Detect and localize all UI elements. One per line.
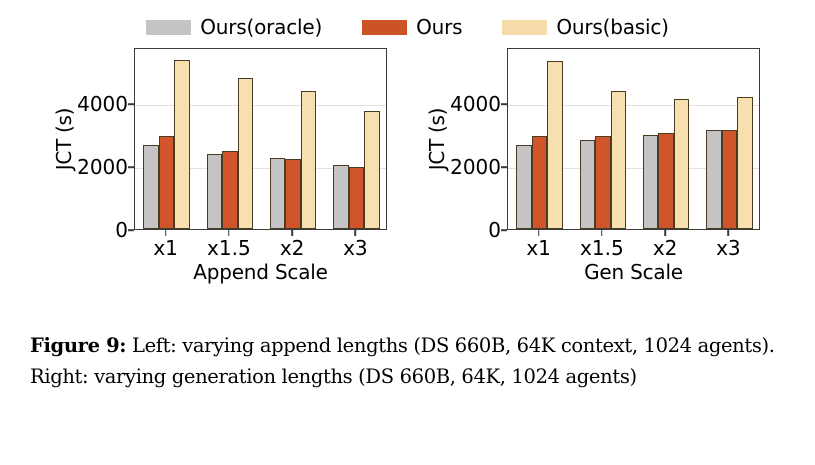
y-axis-label: JCT (s) xyxy=(425,48,449,230)
bar xyxy=(532,136,548,230)
x-axis-label: Append Scale xyxy=(134,260,387,284)
x-tick-label: x1 xyxy=(153,236,178,260)
plot-area xyxy=(507,48,760,230)
legend-entry: Ours(oracle) xyxy=(146,17,322,37)
bar xyxy=(595,136,611,230)
x-tick-label: x1 xyxy=(526,236,551,260)
x-tick-label: x2 xyxy=(280,236,305,260)
bar xyxy=(611,91,627,229)
bar xyxy=(706,130,722,229)
x-axis-label: Gen Scale xyxy=(507,260,760,284)
bar xyxy=(174,60,190,229)
bar xyxy=(364,111,380,229)
legend-label: Ours xyxy=(416,17,462,37)
bar xyxy=(516,145,532,229)
caption-prefix: Figure 9: xyxy=(30,334,126,357)
x-tick-label: x1.5 xyxy=(207,236,251,260)
gridline xyxy=(135,105,386,106)
x-tick-label: x1.5 xyxy=(580,236,624,260)
bar xyxy=(643,135,659,229)
bar xyxy=(547,61,563,229)
bar xyxy=(159,136,175,230)
x-axis-ticks: x1x1.5x2x3 xyxy=(507,230,760,258)
x-tick-label: x3 xyxy=(343,236,368,260)
legend-swatch-gray-icon xyxy=(146,20,191,35)
y-axis-label: JCT (s) xyxy=(52,48,76,230)
legend-label: Ours(basic) xyxy=(556,17,668,37)
chart-legend: Ours(oracle) Ours Ours(basic) xyxy=(0,10,815,44)
bar xyxy=(143,145,159,229)
y-axis-ticks: 020004000 xyxy=(447,48,507,230)
legend-entry: Ours(basic) xyxy=(502,17,668,37)
bar xyxy=(238,78,254,229)
bar xyxy=(658,133,674,229)
bar xyxy=(207,154,223,229)
y-tick-label: 0 xyxy=(115,218,128,242)
y-tick-label: 2000 xyxy=(450,155,501,179)
figure-caption: Figure 9: Left: varying append lengths (… xyxy=(30,330,790,392)
bar xyxy=(674,99,690,229)
x-tick-label: x2 xyxy=(653,236,678,260)
bar xyxy=(349,167,365,229)
gridline xyxy=(508,105,759,106)
y-tick-label: 2000 xyxy=(77,155,128,179)
bar xyxy=(580,140,596,229)
bar xyxy=(333,165,349,229)
legend-swatch-beige-icon xyxy=(502,20,547,35)
bar xyxy=(285,159,301,229)
y-tick-label: 4000 xyxy=(450,92,501,116)
y-tick-label: 4000 xyxy=(77,92,128,116)
y-tick-label: 0 xyxy=(488,218,501,242)
figure-9: Ours(oracle) Ours Ours(basic) JCT (s) 02… xyxy=(0,0,815,310)
bar xyxy=(722,130,738,229)
x-tick-label: x3 xyxy=(716,236,741,260)
bar xyxy=(737,97,753,229)
bar xyxy=(222,151,238,229)
y-axis-ticks: 020004000 xyxy=(74,48,134,230)
legend-swatch-orange-icon xyxy=(362,20,407,35)
x-axis-ticks: x1x1.5x2x3 xyxy=(134,230,387,258)
legend-label: Ours(oracle) xyxy=(200,17,322,37)
bar xyxy=(270,158,286,229)
bar xyxy=(301,91,317,229)
legend-entry: Ours xyxy=(362,17,462,37)
plot-area xyxy=(134,48,387,230)
caption-text: Left: varying append lengths (DS 660B, 6… xyxy=(30,334,775,388)
